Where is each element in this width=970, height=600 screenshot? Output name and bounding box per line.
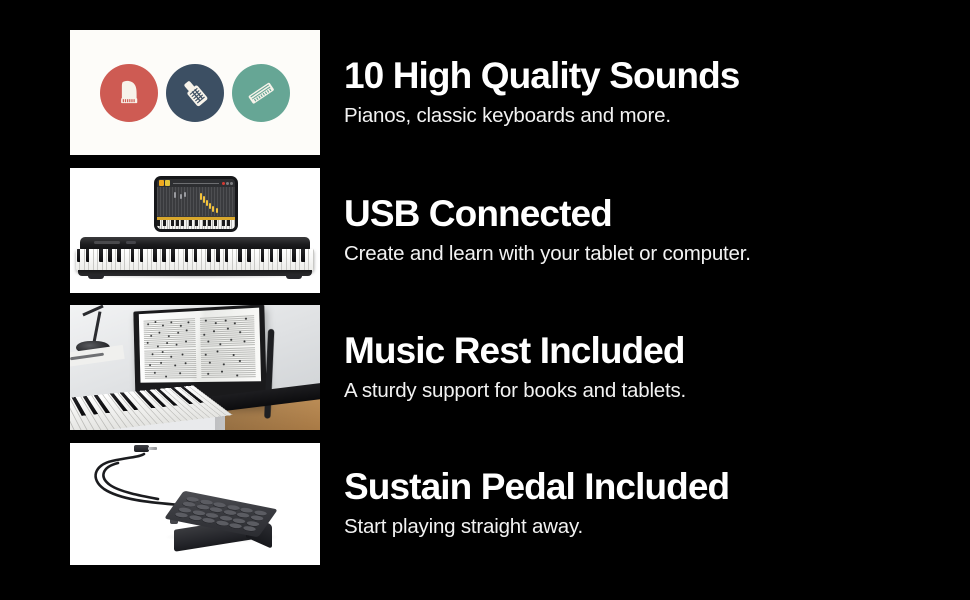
feature-row: 10 High Quality Sounds Pianos, classic k… — [70, 30, 970, 155]
transport-dot-icon — [230, 182, 233, 185]
feature-headline: Music Rest Included — [344, 332, 685, 370]
piano-base — [78, 270, 312, 276]
feature-image-instrument-sound-badges — [70, 30, 320, 155]
sheet-page — [143, 318, 196, 376]
note-marker — [212, 206, 214, 212]
note-marker — [200, 193, 202, 200]
piano-foot — [88, 275, 104, 279]
feature-row: Sustain Pedal Included Start playing str… — [70, 443, 970, 565]
staff-line-group — [200, 336, 255, 344]
track-block-icon — [159, 180, 164, 186]
staff-line-group — [144, 328, 195, 336]
feature-image-piano-with-tablet — [70, 168, 320, 293]
note-marker — [180, 194, 182, 199]
quarter-inch-jack — [134, 445, 156, 452]
sustain-pedal — [174, 491, 272, 545]
piano-roll-grid — [157, 187, 235, 216]
on-screen-keyboard — [157, 220, 235, 229]
staff-line-group — [143, 318, 194, 327]
staff-line-group — [199, 315, 254, 324]
staff-line-group — [144, 359, 195, 366]
sheet-page — [199, 315, 255, 375]
staff-line-group — [145, 369, 196, 376]
note-marker — [206, 200, 208, 206]
feature-image-music-rest-photo — [70, 305, 320, 430]
feature-subline: Pianos, classic keyboards and more. — [344, 104, 671, 129]
note-marker — [174, 192, 176, 198]
note-marker — [184, 192, 186, 197]
record-dot-icon — [222, 182, 225, 185]
keyboard-badge — [232, 64, 290, 122]
keytar-badge — [166, 64, 224, 122]
staff-line-group — [200, 347, 255, 355]
note-marker — [203, 196, 205, 203]
feature-copy: Music Rest Included A sturdy support for… — [320, 305, 970, 430]
pedal-cable — [88, 447, 184, 511]
note-marker — [209, 203, 211, 209]
staff-line-group — [144, 349, 195, 357]
feature-headline: 10 High Quality Sounds — [344, 57, 739, 95]
feature-headline: Sustain Pedal Included — [344, 468, 729, 506]
toolbar-divider — [173, 183, 219, 184]
staff-line-group — [200, 326, 255, 335]
feature-copy: 10 High Quality Sounds Pianos, classic k… — [320, 30, 970, 155]
piano-button-row — [126, 241, 136, 244]
transport-dot-icon — [226, 182, 229, 185]
feature-copy: Sustain Pedal Included Start playing str… — [320, 443, 970, 565]
feature-copy: USB Connected Create and learn with your… — [320, 168, 970, 293]
feature-subline: Create and learn with your tablet or com… — [344, 242, 751, 267]
sheet-music — [139, 308, 261, 383]
tablet-device — [154, 176, 238, 232]
piano-speaker-grille — [94, 241, 120, 244]
jack-tip — [148, 447, 157, 450]
staff-line-group — [144, 338, 195, 346]
sustain-pedal-scene — [70, 443, 320, 565]
grand-piano-icon — [114, 78, 144, 108]
staff-line-group — [201, 368, 256, 375]
instrument-badge-group — [70, 30, 320, 155]
feature-row: USB Connected Create and learn with your… — [70, 168, 970, 293]
feature-row: Music Rest Included A sturdy support for… — [70, 305, 970, 430]
music-rest-scene — [70, 305, 320, 430]
track-block-icon — [165, 180, 170, 186]
staff-line-group — [200, 357, 255, 365]
note-marker — [216, 208, 218, 213]
piano-keybed — [76, 249, 314, 271]
keytar-icon — [179, 77, 211, 109]
feature-headline: USB Connected — [344, 195, 612, 233]
grand-piano-badge — [100, 64, 158, 122]
music-app-toolbar — [157, 179, 235, 187]
usb-connected-scene — [70, 168, 320, 293]
digital-piano — [76, 237, 314, 277]
feature-subline: Start playing straight away. — [344, 515, 583, 540]
piano-foot — [286, 275, 302, 279]
feature-subline: A sturdy support for books and tablets. — [344, 379, 686, 404]
feature-image-sustain-pedal-photo — [70, 443, 320, 565]
keyboard-icon — [245, 77, 277, 109]
feature-list-page: 10 High Quality Sounds Pianos, classic k… — [0, 0, 970, 600]
jack-housing — [134, 445, 149, 452]
tablet-screen — [157, 179, 235, 229]
